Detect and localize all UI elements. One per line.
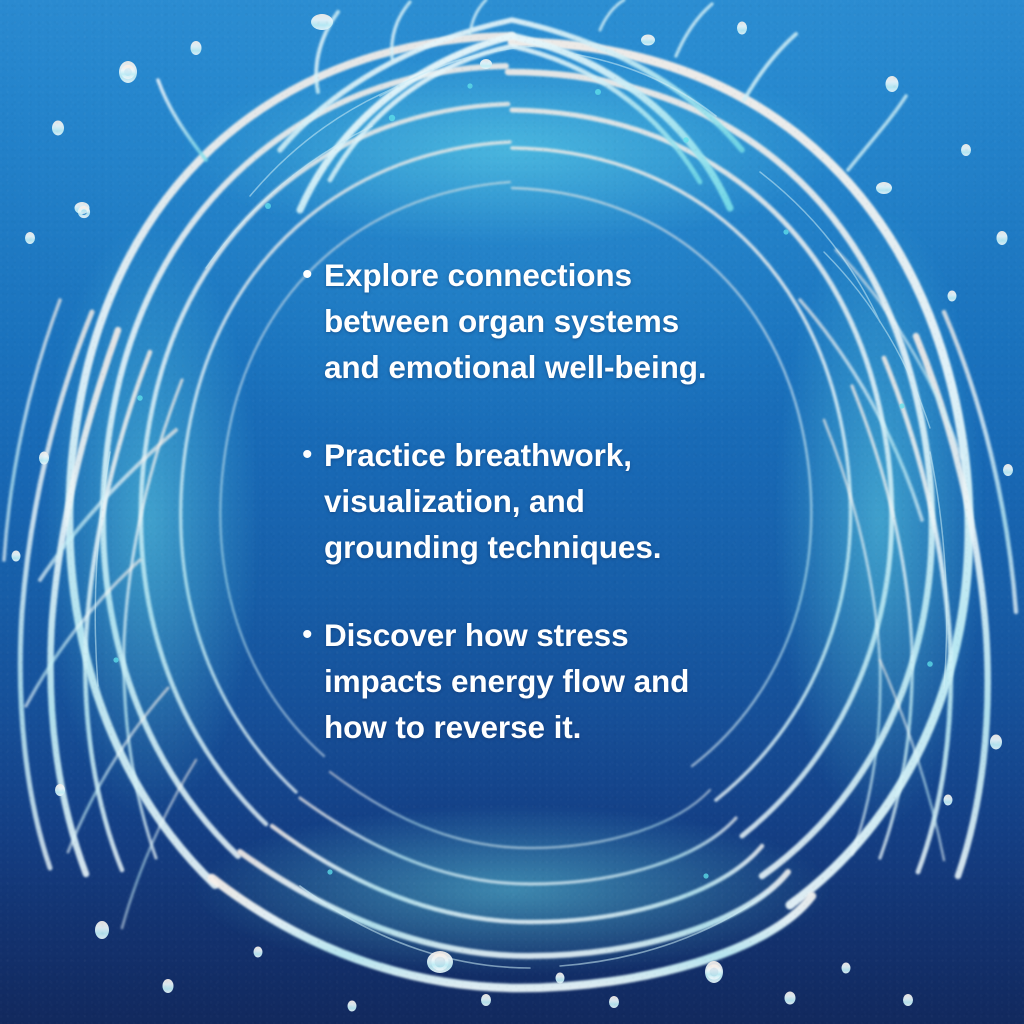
bullet-point-icon: • <box>300 612 324 658</box>
bullet-point-icon: • <box>300 432 324 478</box>
list-item: • Explore connections between organ syst… <box>300 252 820 390</box>
list-item: • Practice breathwork, visualization, an… <box>300 432 820 570</box>
bullet-text-3: Discover how stress impacts energy flow … <box>324 612 820 750</box>
list-item: • Discover how stress impacts energy flo… <box>300 612 820 750</box>
bullet-list: • Explore connections between organ syst… <box>300 252 820 750</box>
poster-canvas: • Explore connections between organ syst… <box>0 0 1024 1024</box>
bullet-text-1: Explore connections between organ system… <box>324 252 820 390</box>
bullet-point-icon: • <box>300 252 324 298</box>
bullet-text-2: Practice breathwork, visualization, and … <box>324 432 820 570</box>
